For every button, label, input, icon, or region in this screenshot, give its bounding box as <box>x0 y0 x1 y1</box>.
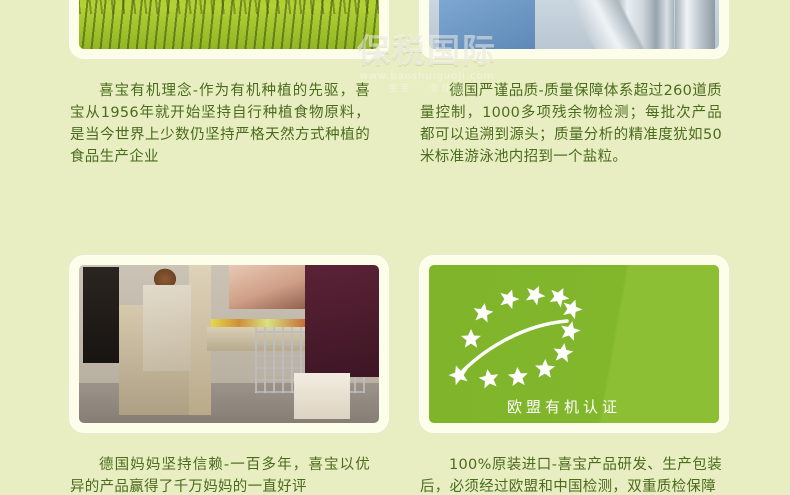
card-caption: 喜宝有机理念-作为有机种植的先驱，喜宝从1956年就开始坚持自行种植食物原料，是… <box>70 80 370 168</box>
photo-frame <box>70 256 388 432</box>
feature-card-german-quality[interactable]: 德国严谨品质-质量保障体系超过260道质量控制，1000多项残余物检测；每批次产… <box>412 0 767 168</box>
feature-card-organic-concept[interactable]: 喜宝有机理念-作为有机种植的先驱，喜宝从1956年就开始坚持自行种植食物原料，是… <box>62 0 417 168</box>
feature-card-german-moms-trust[interactable]: 德国妈妈坚持信赖-一百多年，喜宝以优异的产品赢得了千万妈妈的一直好评 <box>62 256 417 495</box>
supermarket-checkout-photo <box>79 265 379 423</box>
feature-card-original-import[interactable]: 欧盟有机认证 100%原装进口-喜宝产品研发、生产包装后，必须经过欧盟和中国检测… <box>412 256 767 495</box>
card-caption: 100%原装进口-喜宝产品研发、生产包装后，必须经过欧盟和中国检测，双重质检保障 <box>420 454 722 495</box>
eu-organic-certification-logo: 欧盟有机认证 <box>429 265 719 423</box>
product-detail-page: 喜宝有机理念-作为有机种植的先驱，喜宝从1956年就开始坚持自行种植食物原料，是… <box>0 0 790 495</box>
card-caption: 德国妈妈坚持信赖-一百多年，喜宝以优异的产品赢得了千万妈妈的一直好评 <box>70 454 370 495</box>
photo-frame <box>420 0 728 58</box>
organic-farm-photo <box>79 0 379 49</box>
feature-card-grid: 喜宝有机理念-作为有机种植的先驱，喜宝从1956年就开始坚持自行种植食物原料，是… <box>0 0 790 495</box>
card-caption: 德国严谨品质-质量保障体系超过260道质量控制，1000多项残余物检测；每批次产… <box>420 80 722 168</box>
laboratory-production-photo <box>429 0 719 49</box>
photo-frame <box>70 0 388 58</box>
eu-logo-label: 欧盟有机认证 <box>507 398 621 416</box>
eu-leaf-stars-icon: 欧盟有机认证 <box>429 265 719 423</box>
photo-frame: 欧盟有机认证 <box>420 256 728 432</box>
